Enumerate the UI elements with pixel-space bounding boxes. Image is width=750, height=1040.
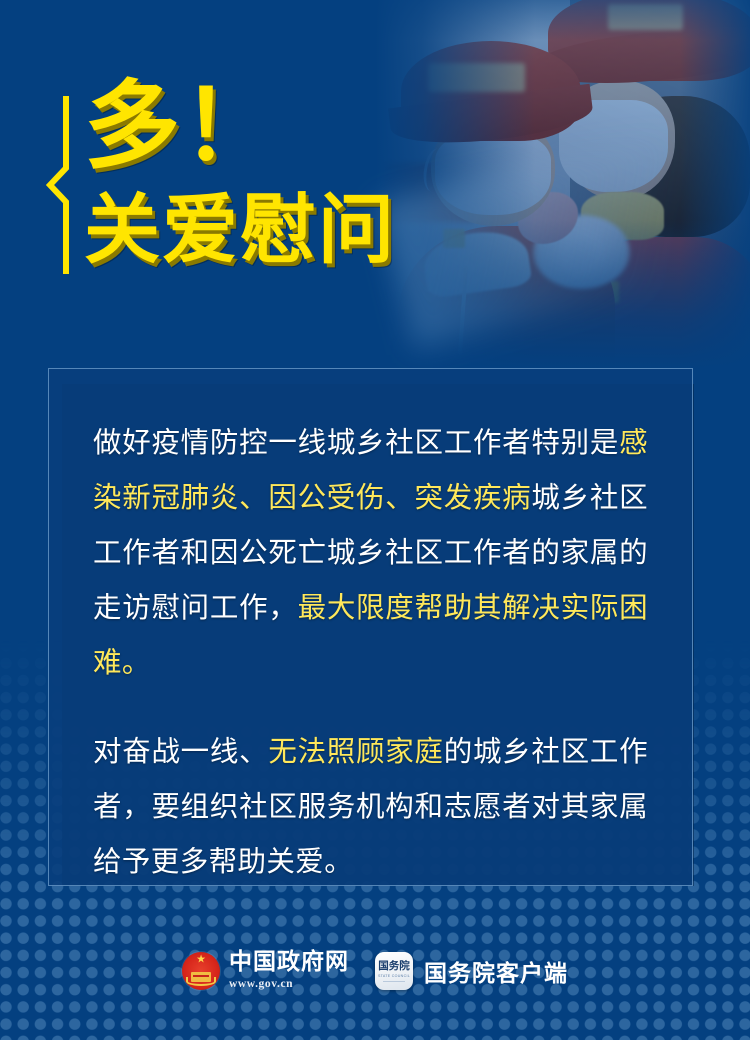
gov-url-label: www.gov.cn — [229, 979, 349, 991]
bracket-marker-icon — [46, 96, 72, 274]
emblem-wheat-shape — [186, 977, 216, 986]
body-text-plain: 做好疫情防控一线城乡社区工作者特别是 — [93, 426, 619, 459]
national-emblem-icon: ★ — [182, 952, 220, 990]
app-icon-title: 国务院 — [378, 961, 410, 972]
photo-fade-bottom — [375, 220, 750, 370]
gov-name-label: 中国政府网 — [229, 951, 349, 974]
body-paragraph-1: 做好疫情防控一线城乡社区工作者特别是感染新冠肺炎、因公受伤、突发疾病城乡社区工作… — [93, 415, 648, 690]
content-card: 做好疫情防控一线城乡社区工作者特别是感染新冠肺炎、因公受伤、突发疾病城乡社区工作… — [48, 368, 693, 886]
app-icon-subtitle: STATE COUNCIL — [378, 974, 410, 978]
state-council-app-icon: 国务院 STATE COUNCIL — [375, 952, 413, 990]
headline-line-2: 关爱慰问 — [84, 192, 396, 268]
emblem-star-icon: ★ — [196, 954, 206, 965]
app-icon-divider — [383, 981, 405, 982]
headline-line-1: 多！ — [84, 78, 280, 174]
state-council-app-label: 国务院客户端 — [424, 954, 568, 988]
volunteers-visiting-photo — [375, 0, 750, 370]
poster-root: 多！ 关爱慰问 做好疫情防控一线城乡社区工作者特别是感染新冠肺炎、因公受伤、突发… — [0, 0, 750, 1040]
body-paragraph-2: 对奋战一线、无法照顾家庭的城乡社区工作者，要组织社区服务机构和志愿者对其家属给予… — [93, 724, 648, 889]
body-text-plain: 对奋战一线、 — [93, 735, 268, 768]
headline-block: 多！ 关爱慰问 — [0, 0, 420, 330]
body-text-highlight: 无法照顾家庭 — [268, 735, 443, 768]
gov-brand[interactable]: ★ 中国政府网 www.gov.cn — [182, 951, 349, 991]
footer-brand-bar: ★ 中国政府网 www.gov.cn 国务院 STATE COUNCIL 国务院… — [0, 940, 750, 1002]
state-council-app-brand[interactable]: 国务院 STATE COUNCIL 国务院客户端 — [375, 952, 568, 990]
gov-brand-text: 中国政府网 www.gov.cn — [229, 951, 349, 991]
